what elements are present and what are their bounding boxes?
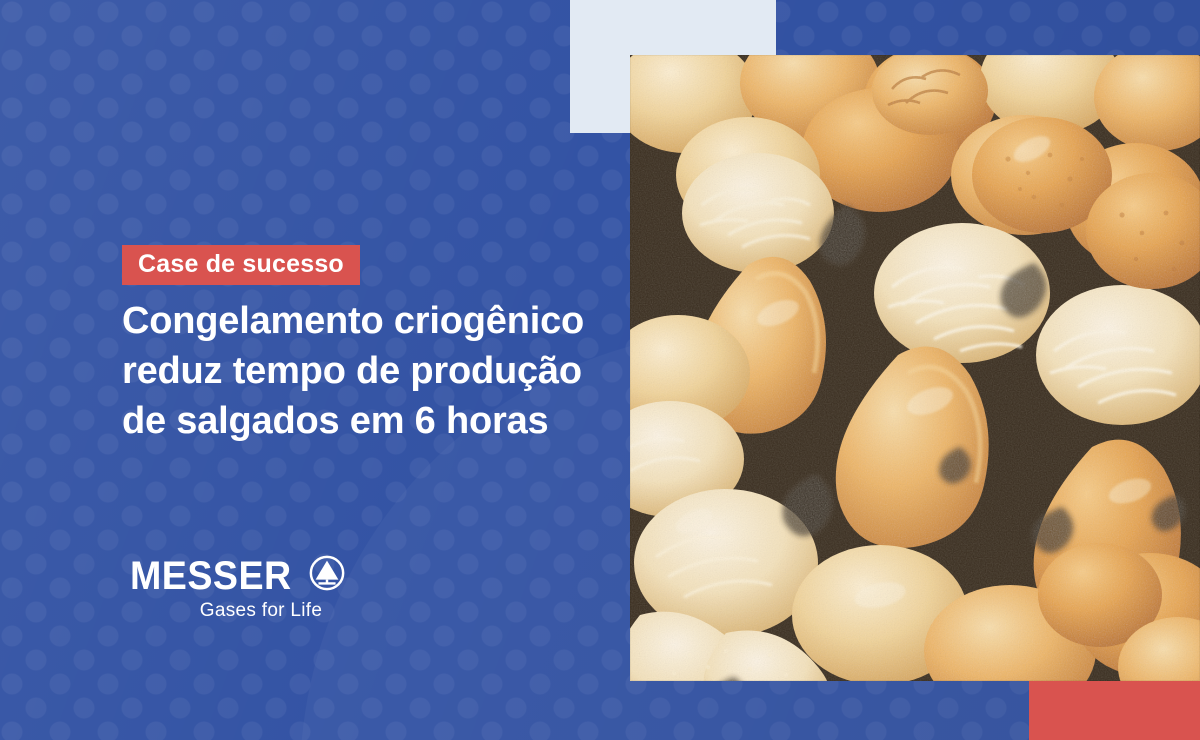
logo-tagline: Gases for Life [130,600,392,622]
page-title: Congelamento criogênico reduz tempo de p… [122,297,622,446]
bottom-right-accent-block [1029,681,1200,740]
headline-line-1: Congelamento criogênico [122,297,622,347]
salgados-photo [630,55,1200,681]
logo-row: MESSER [130,556,420,596]
messer-circle-triangle-icon [308,554,346,592]
logo-wordmark: MESSER [130,556,292,596]
photo-canvas [630,55,1200,681]
case-study-banner: Case de sucesso Congelamento criogênico … [0,0,1200,740]
content-column: Case de sucesso Congelamento criogênico … [122,0,622,740]
messer-logo: MESSER Gases for Life [130,556,420,622]
status-badge: Case de sucesso [122,245,360,285]
headline-line-3: de salgados em 6 horas [122,397,622,447]
headline-line-2: reduz tempo de produção [122,347,622,397]
